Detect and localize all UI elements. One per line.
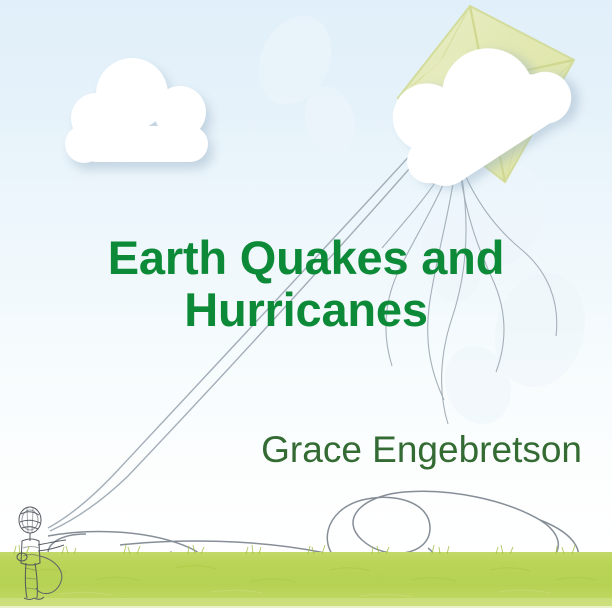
- slide-title: Earth Quakes and Hurricanes: [40, 232, 572, 336]
- presentation-slide: Earth Quakes and Hurricanes Grace Engebr…: [0, 0, 612, 612]
- slide-subtitle-author: Grace Engebretson: [40, 428, 582, 472]
- grass-band: [0, 545, 612, 608]
- cloud-left-icon: [62, 52, 232, 170]
